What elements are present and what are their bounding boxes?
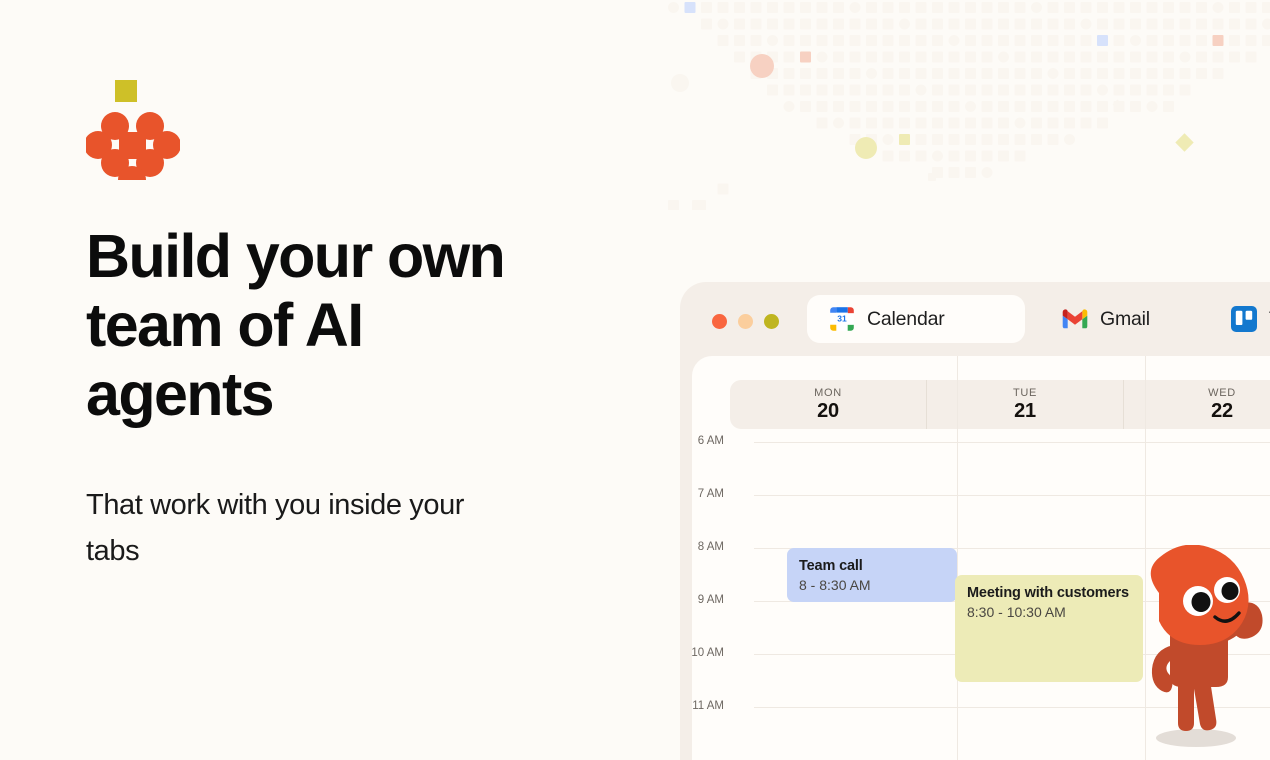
event-title: Meeting with customers — [967, 584, 1131, 603]
calendar-event[interactable]: Team call 8 - 8:30 AM — [787, 548, 957, 602]
hour-label: 8 AM — [692, 541, 724, 553]
window-controls — [712, 314, 779, 329]
maximize-window-button[interactable] — [764, 314, 779, 329]
tab-calendar-label: Calendar — [867, 308, 945, 331]
day-name: MON — [814, 387, 842, 400]
minimize-window-button[interactable] — [738, 314, 753, 329]
browser-window-mock: 31 Calendar Gmail Trello — [680, 282, 1270, 760]
calendar-day-column-header[interactable]: MON 20 — [730, 380, 927, 429]
calendar-time-grid: 6 AM 7 AM 8 AM 9 AM 10 AM 11 AM — [692, 429, 1270, 760]
gmail-icon — [1062, 306, 1088, 332]
day-number: 21 — [1014, 400, 1036, 423]
page-subtitle: That work with you inside your tabs — [86, 482, 466, 574]
event-title: Team call — [799, 557, 945, 576]
hour-label: 10 AM — [692, 647, 724, 659]
browser-tab-bar: 31 Calendar Gmail Trello — [680, 282, 1270, 356]
hour-gridline — [754, 495, 1270, 496]
close-window-button[interactable] — [712, 314, 727, 329]
svg-text:31: 31 — [837, 313, 847, 323]
calendar-app-panel: MON 20 TUE 21 WED 22 6 AM 7 AM — [692, 356, 1270, 760]
google-calendar-icon: 31 — [829, 306, 855, 332]
hour-gridline — [754, 442, 1270, 443]
calendar-event[interactable]: Meeting with customers 8:30 - 10:30 AM — [955, 575, 1143, 682]
hour-gridline — [754, 707, 1270, 708]
day-name: TUE — [1013, 387, 1037, 400]
tab-calendar[interactable]: 31 Calendar — [807, 295, 1025, 343]
tab-trello[interactable]: Trello — [1209, 295, 1270, 343]
hour-label: 9 AM — [692, 594, 724, 606]
tab-gmail[interactable]: Gmail — [1040, 295, 1172, 343]
hour-label: 6 AM — [692, 435, 724, 447]
page-title: Build your own team of AI agents — [86, 222, 556, 429]
hour-label: 7 AM — [692, 488, 724, 500]
day-number: 22 — [1211, 400, 1233, 423]
hero-section: Build your own team of AI agents That wo… — [86, 0, 606, 760]
event-time: 8 - 8:30 AM — [799, 576, 945, 595]
braid-logo — [86, 80, 180, 180]
event-time: 8:30 - 10:30 AM — [967, 603, 1131, 622]
day-number: 20 — [817, 400, 839, 423]
calendar-day-header: MON 20 TUE 21 WED 22 — [730, 380, 1270, 429]
decorative-shape-grid — [640, 0, 1270, 210]
hour-label: 11 AM — [692, 700, 724, 712]
day-name: WED — [1208, 387, 1236, 400]
tab-gmail-label: Gmail — [1100, 308, 1150, 331]
trello-icon — [1231, 306, 1257, 332]
